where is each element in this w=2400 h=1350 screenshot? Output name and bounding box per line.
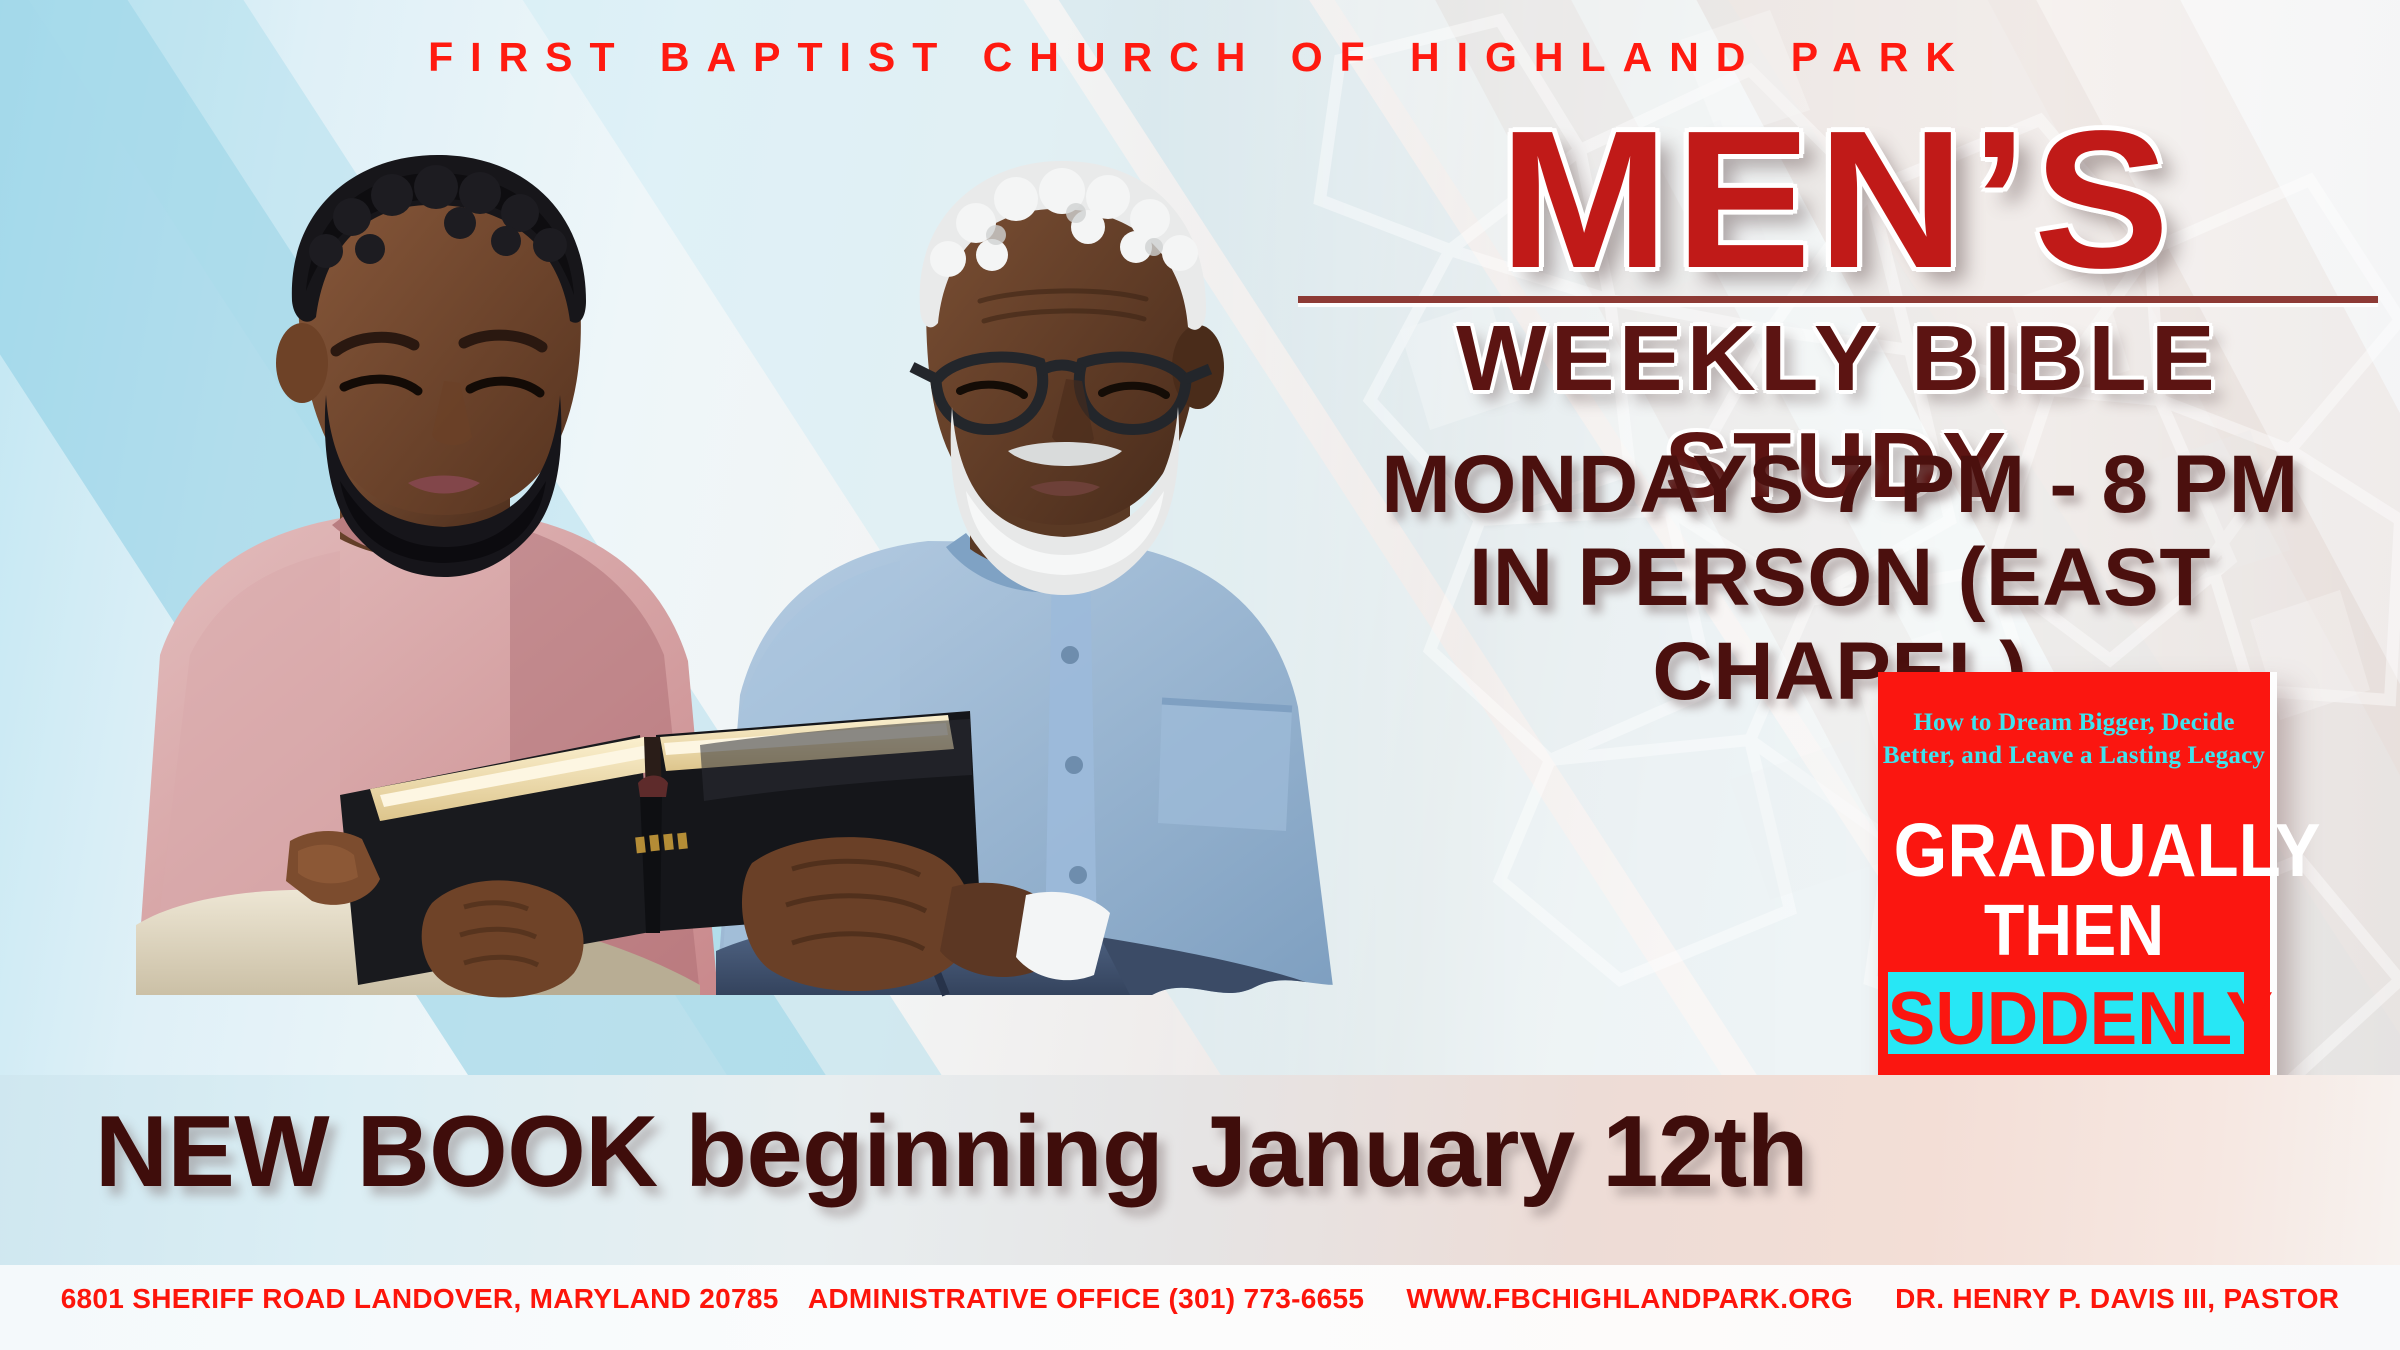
footer-spacer (787, 1283, 800, 1315)
book-title-line1: GRADUALLY (1894, 807, 2255, 893)
book-title-line2: THEN (1894, 890, 2255, 972)
page-title: MEN’S (1268, 110, 2400, 290)
flyer-canvas: FIRST BAPTIST CHURCH OF HIGHLAND PARK ME… (0, 0, 2400, 1350)
footer-spacer (1861, 1283, 1887, 1315)
footer-contact-line: 6801 SHERIFF ROAD LANDOVER, MARYLAND 207… (0, 1283, 2400, 1315)
book-title-line3: SUDDENLY (1888, 975, 2260, 1061)
footer-address: 6801 SHERIFF ROAD LANDOVER, MARYLAND 207… (61, 1283, 779, 1315)
footer-pastor: DR. HENRY P. DAVIS III, PASTOR (1895, 1283, 2339, 1315)
photo-two-men-reading-bible (40, 95, 1370, 1095)
footer-spacer (1372, 1283, 1398, 1315)
footer-office: ADMINISTRATIVE OFFICE (301) 773-6655 (808, 1283, 1364, 1315)
church-name-header: FIRST BAPTIST CHURCH OF HIGHLAND PARK (0, 34, 2400, 81)
schedule-time: MONDAYS 7 PM - 8 PM (1279, 438, 2400, 531)
book-subtitle: How to Dream Bigger, Decide Better, and … (1878, 706, 2270, 772)
footer-website[interactable]: WWW.FBCHIGHLANDPARK.ORG (1406, 1283, 1853, 1315)
announcement-text: NEW BOOK beginning January 12th (95, 1095, 1815, 1210)
